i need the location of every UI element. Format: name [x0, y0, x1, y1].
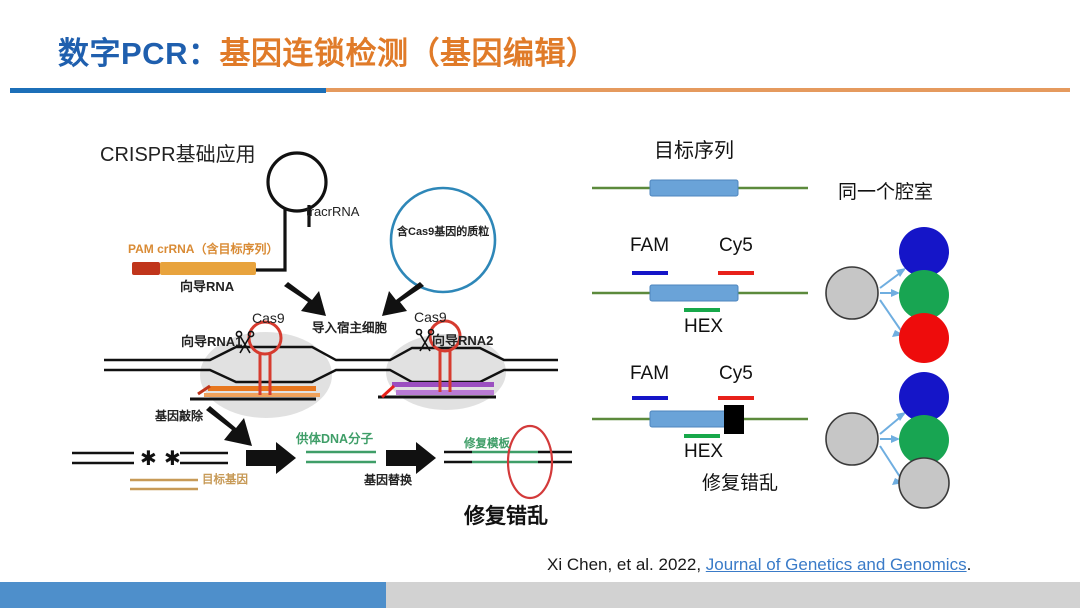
page-title-primary: 数字PCR： — [58, 36, 219, 71]
crispr-workflow-diagram: ✱ ✱ CRISPR基础应用 tracrRNA PAM crRNA（含目标序列）… — [60, 110, 580, 550]
hex-label-1: HEX — [684, 316, 723, 338]
droplet-group-1 — [826, 227, 949, 363]
dpcr-linkage-graphic — [580, 110, 1060, 550]
gene-knockout-label: 基因敲除 — [155, 407, 203, 424]
donor-dna-strands — [306, 452, 376, 462]
positive-droplet-hex-1 — [899, 270, 949, 320]
fam-label-2: FAM — [630, 363, 669, 385]
citation-authors: Xi Chen, et al. 2022, — [547, 555, 706, 574]
positive-droplet-fam-1 — [899, 227, 949, 277]
journal-link[interactable]: Journal of Genetics and Genomics — [706, 555, 967, 574]
footer-blue-segment — [0, 582, 386, 608]
guide-rna1-label: 向导RNA1 — [181, 331, 242, 350]
positive-droplet-cy5-1 — [899, 313, 949, 363]
crispr-heading: CRISPR基础应用 — [100, 138, 256, 167]
repair-template-label: 修复模板 — [464, 435, 510, 451]
same-chamber-label: 同一个腔室 — [838, 177, 933, 204]
footer-gray-segment — [386, 582, 1080, 608]
guide-rna-label: 向导RNA — [180, 276, 234, 295]
positive-droplet-fam-2 — [899, 372, 949, 422]
page-title: 数字PCR：基因连锁检测（基因编辑） — [58, 28, 597, 73]
negative-droplet-cy5-2 — [899, 458, 949, 508]
citation: Xi Chen, et al. 2022, Journal of Genetic… — [547, 555, 971, 575]
mutation-block — [724, 405, 744, 434]
page-title-secondary: 基因连锁检测（基因编辑） — [219, 36, 597, 71]
cas9-label-left: Cas9 — [252, 310, 285, 326]
cy5-label-2: Cy5 — [719, 363, 753, 385]
mutated-amplicon-construct — [592, 398, 808, 436]
droplet-group-2 — [826, 372, 949, 508]
target-sequence-construct — [592, 180, 808, 196]
convergence-arrows — [284, 282, 424, 316]
hex-label-2: HEX — [684, 441, 723, 463]
cy5-label-1: Cy5 — [719, 235, 753, 257]
divider-blue-segment — [10, 88, 326, 93]
intact-amplicon-construct — [592, 273, 808, 310]
repair-error-label-right: 修复错乱 — [702, 468, 778, 495]
cut-site-asterisk-right: ✱ — [164, 448, 181, 470]
fam-label-1: FAM — [630, 235, 669, 257]
source-droplet-1 — [826, 267, 878, 319]
divider-orange-segment — [326, 88, 1070, 92]
cas9-label-right: Cas9 — [414, 309, 447, 325]
citation-period: . — [967, 555, 972, 574]
intro-host-cell-label: 导入宿主细胞 — [312, 317, 387, 336]
source-droplet-2 — [826, 413, 878, 465]
title-divider — [10, 88, 1070, 93]
crrna-segment — [160, 262, 256, 275]
guide-rna2-label: 向导RNA2 — [432, 330, 493, 349]
target-gene-label: 目标基因 — [202, 471, 248, 487]
footer-bar — [0, 582, 1080, 608]
tracrrna-label: tracrRNA — [306, 204, 359, 219]
excised-target-gene — [130, 480, 198, 489]
gene-replacement-label: 基因替换 — [364, 471, 412, 488]
target-sequence-label: 目标序列 — [654, 134, 734, 163]
cas9-plasmid-circle — [391, 188, 495, 292]
cut-site-asterisk-left: ✱ — [140, 448, 157, 470]
repair-error-label-left: 修复错乱 — [464, 500, 548, 530]
donor-dna-label: 供体DNA分子 — [296, 428, 373, 447]
pam-crrna-label: PAM crRNA（含目标序列） — [128, 240, 278, 257]
dpcr-linkage-detection-diagram: 目标序列 同一个腔室 FAM Cy5 HEX FAM Cy5 HEX 修复错乱 — [580, 110, 1060, 550]
pam-segment — [132, 262, 160, 275]
step-arrow-1 — [246, 442, 296, 474]
step-arrow-2 — [386, 442, 436, 474]
plasmid-label: 含Cas9基因的质粒 — [397, 223, 489, 239]
